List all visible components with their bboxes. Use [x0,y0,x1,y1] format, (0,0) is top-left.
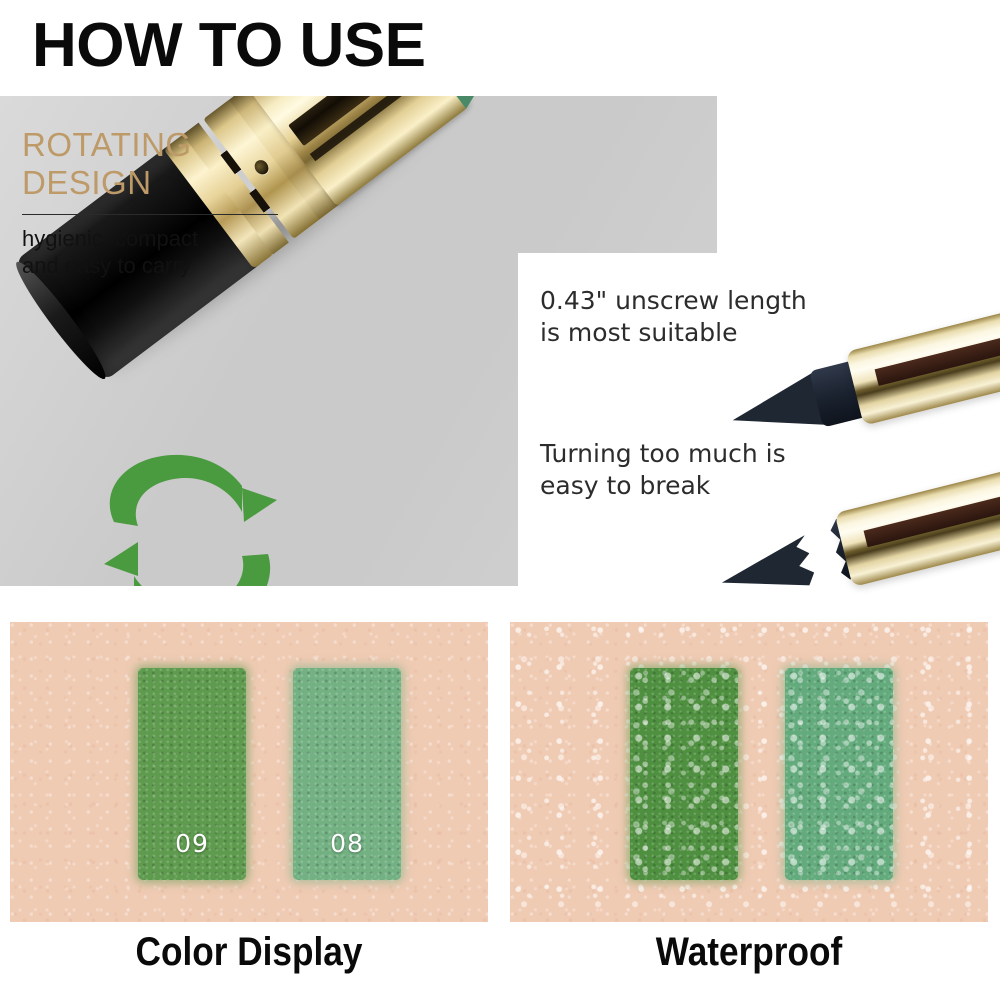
caption-waterproof: Waterproof [539,928,960,976]
skin-water-droplets [510,622,988,922]
rotating-subtitle-line1: hygienic, compact [22,225,297,252]
rotate-arrow-icon [92,426,307,586]
rotating-title-line2: DESIGN [22,164,297,202]
rotating-subtitle-line2: and easy to carry [22,252,297,279]
swatch-water-droplets [785,668,893,880]
swatch-08-wet [785,668,893,880]
caption-color-display: Color Display [39,928,460,976]
rotating-divider [22,214,278,215]
pencil-broken-shard [716,535,818,608]
skin-texture [10,622,488,922]
color-display-swatch-panel: 09 08 [10,622,488,922]
swatch-water-droplets [630,668,738,880]
rotating-design-panel: ROTATING DESIGN hygienic, compact and ea… [0,96,717,586]
waterproof-swatch-panel [510,622,988,922]
rotating-design-text-block: ROTATING DESIGN hygienic, compact and ea… [22,126,297,279]
rotating-title-line1: ROTATING [22,126,297,164]
swatch-09-wet [630,668,738,880]
swatch-label: 08 [293,829,401,858]
swatch-label: 09 [138,829,246,858]
page-title: HOW TO USE [32,12,425,80]
swatch-09: 09 [138,668,246,880]
infographic-page: HOW TO USE [0,0,1000,1000]
swatch-08: 08 [293,668,401,880]
